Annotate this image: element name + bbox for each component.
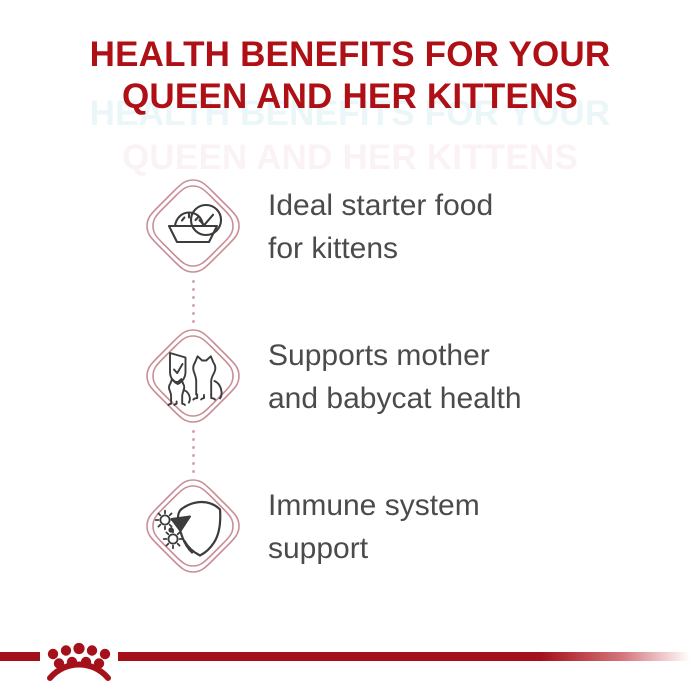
benefit-label-2-line-1: Supports mother: [268, 334, 668, 377]
title-line-2: QUEEN AND HER KITTENS: [0, 76, 700, 118]
connector-dot: [192, 312, 195, 315]
connector-dots-2: [191, 430, 195, 478]
connector-dot: [192, 288, 195, 291]
benefit-item-2: Supports mother and babycat health: [0, 326, 700, 476]
connector-dot: [192, 438, 195, 441]
page-title: HEALTH BENEFITS FOR YOUR QUEEN AND HER K…: [0, 34, 700, 118]
benefit-label-2: Supports mother and babycat health: [268, 334, 668, 420]
brand-bar-left: [0, 652, 40, 661]
connector-dot: [192, 462, 195, 465]
benefit-label-3-line-2: support: [268, 527, 668, 570]
connector-dot: [192, 304, 195, 307]
benefit-label-3-line-1: Immune system: [268, 484, 668, 527]
benefit-label-3: Immune system support: [268, 484, 668, 570]
title-line-1: HEALTH BENEFITS FOR YOUR: [0, 34, 700, 76]
product-benefits-infographic: HEALTH BENEFITS FOR YOUR QUEEN AND HER K…: [0, 0, 700, 700]
brand-footer: [0, 628, 700, 700]
connector-dot: [192, 430, 195, 433]
connector-dots-1: [191, 280, 195, 328]
benefit-label-1-line-1: Ideal starter food: [268, 184, 668, 227]
brand-bar-right: [118, 652, 690, 661]
benefit-label-1: Ideal starter food for kittens: [268, 184, 668, 270]
benefit-item-1: Ideal starter food for kittens: [0, 176, 700, 326]
connector-dot: [192, 296, 195, 299]
benefit-label-1-line-2: for kittens: [268, 227, 668, 270]
connector-dot: [192, 320, 195, 323]
benefits-list: Ideal starter food for kittens: [0, 176, 700, 626]
shield-germ-deflect-icon: [143, 476, 243, 576]
shield-check-cats-icon: [143, 326, 243, 426]
benefit-label-2-line-2: and babycat health: [268, 377, 668, 420]
food-bowl-check-icon: [143, 176, 243, 276]
connector-dot: [192, 446, 195, 449]
benefit-item-3: Immune system support: [0, 476, 700, 626]
connector-dot: [192, 454, 195, 457]
title-ghost-line-2: QUEEN AND HER KITTENS: [0, 136, 700, 180]
connector-dot: [192, 470, 195, 473]
royal-canin-crown-logo: [40, 636, 118, 682]
connector-dot: [192, 280, 195, 283]
